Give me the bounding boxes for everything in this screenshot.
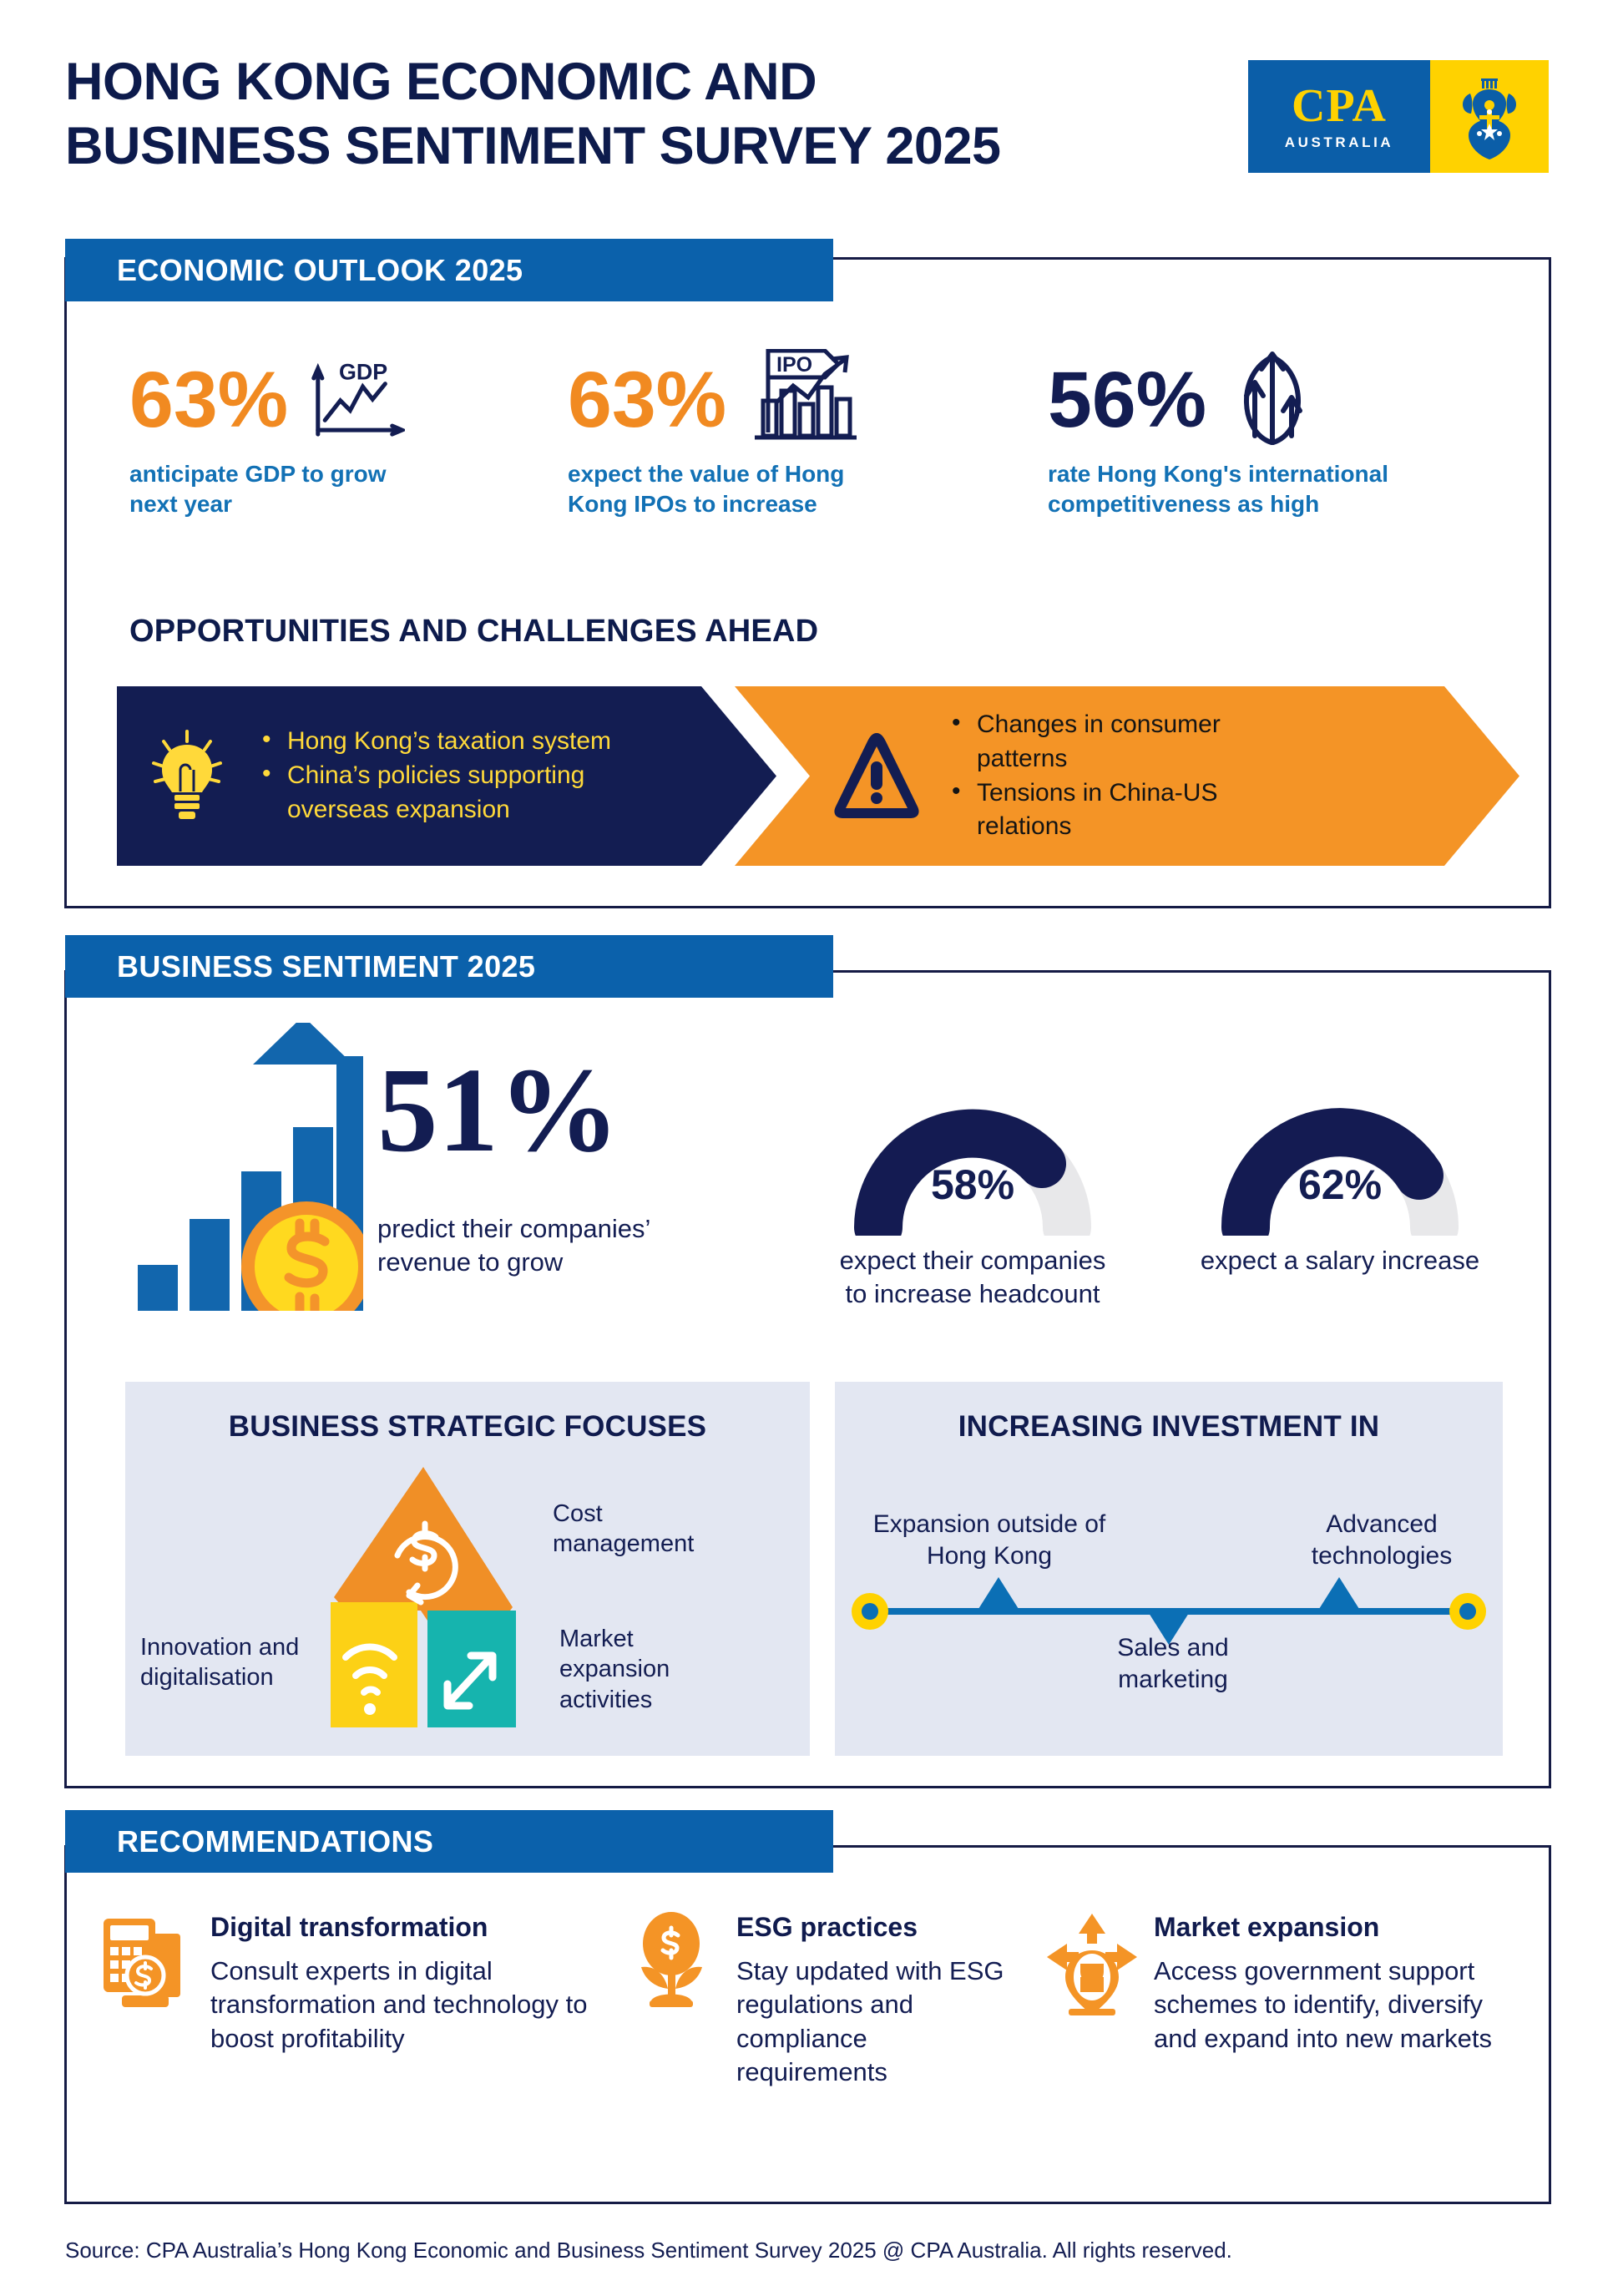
revenue-growth-value: 51% bbox=[377, 1050, 619, 1171]
stat-ipo-caption: expect the value of Hong Kong IPOs to in… bbox=[568, 459, 885, 519]
panel-increasing-investment: INCREASING INVESTMENT IN Expansion outsi… bbox=[835, 1382, 1503, 1756]
logo-brand-text: CPA bbox=[1292, 83, 1387, 129]
gauge-arc-icon bbox=[1211, 1069, 1469, 1236]
recommendation-digital: Digital transformation Consult experts i… bbox=[100, 1912, 601, 2056]
stat-competitiveness: 56% rate Hong Kong's international compe… bbox=[1048, 351, 1449, 519]
investment-marker-technologies bbox=[1319, 1577, 1359, 1609]
opportunities-heading: OPPORTUNITIES AND CHALLENGES AHEAD bbox=[129, 614, 818, 650]
stat-competitiveness-value: 56% bbox=[1048, 361, 1206, 440]
calculator-finance-icon bbox=[100, 1912, 194, 2056]
cpa-australia-logo: CPA AUSTRALIA bbox=[1248, 60, 1549, 173]
strategic-focus-label-cost: Cost management bbox=[553, 1499, 745, 1560]
recommendation-digital-body: Consult experts in digital transformatio… bbox=[210, 1955, 601, 2056]
gauge-salary-caption: expect a salary increase bbox=[1194, 1244, 1486, 1277]
upward-arrows-icon bbox=[1218, 349, 1327, 451]
stat-ipo-row: 63% IPO bbox=[568, 351, 885, 449]
warning-triangle-icon bbox=[827, 730, 927, 823]
panel-increasing-investment-title: INCREASING INVESTMENT IN bbox=[835, 1410, 1503, 1444]
source-note: Source: CPA Australia’s Hong Kong Econom… bbox=[65, 2238, 1232, 2263]
svg-text:GDP: GDP bbox=[339, 360, 387, 385]
strategic-focus-triangle-icon bbox=[294, 1464, 553, 1739]
gauge-salary: 62% expect a salary increase bbox=[1211, 1069, 1469, 1240]
strategic-focus-label-innovation: Innovation and digitalisation bbox=[140, 1632, 307, 1693]
section-header-recommendations: RECOMMENDATIONS bbox=[65, 1810, 833, 1873]
recommendation-digital-text: Digital transformation Consult experts i… bbox=[210, 1912, 601, 2056]
gauge-salary-value: 62% bbox=[1211, 1161, 1469, 1209]
gauge-headcount-value: 58% bbox=[843, 1161, 1102, 1209]
map-pin-expand-icon bbox=[1044, 1912, 1137, 2056]
stat-gdp-row: 63% GDP bbox=[129, 351, 405, 449]
investment-marker-expansion bbox=[978, 1577, 1019, 1609]
section-header-business-sentiment: BUSINESS SENTIMENT 2025 bbox=[65, 935, 833, 998]
stat-gdp: 63% GDP anticipate GDP to grow next year bbox=[129, 351, 405, 519]
growth-bars-coin-icon bbox=[121, 1023, 363, 1311]
logo-yellow-panel bbox=[1430, 60, 1549, 173]
stat-competitiveness-row: 56% bbox=[1048, 351, 1449, 449]
list-item: Tensions in China-US relations bbox=[948, 776, 1282, 845]
page-title-line1: HONG KONG ECONOMIC AND bbox=[65, 50, 1150, 114]
lightbulb-icon bbox=[137, 726, 237, 827]
svg-text:IPO: IPO bbox=[776, 353, 812, 377]
recommendation-market-text: Market expansion Access government suppo… bbox=[1154, 1912, 1511, 2056]
revenue-growth-caption: predict their companies’ revenue to grow bbox=[377, 1212, 745, 1280]
logo-blue-panel: CPA AUSTRALIA bbox=[1248, 60, 1430, 173]
investment-label-technologies: Advanced technologies bbox=[1277, 1509, 1486, 1571]
panel-strategic-focuses: BUSINESS STRATEGIC FOCUSES bbox=[125, 1382, 810, 1756]
challenges-chevron: Changes in consumer patterns Tensions in… bbox=[735, 686, 1519, 866]
section-header-economic-outlook: ECONOMIC OUTLOOK 2025 bbox=[65, 239, 833, 301]
logo-country-text: AUSTRALIA bbox=[1285, 134, 1394, 151]
recommendation-market: Market expansion Access government suppo… bbox=[1044, 1912, 1511, 2056]
investment-endpoint-right bbox=[1449, 1593, 1486, 1630]
opportunities-list: Hong Kong’s taxation system China’s poli… bbox=[259, 725, 618, 827]
gdp-line-chart-icon: GDP bbox=[300, 351, 405, 449]
recommendation-esg: ESG practices Stay updated with ESG regu… bbox=[626, 1912, 1010, 2089]
recommendation-esg-text: ESG practices Stay updated with ESG regu… bbox=[736, 1912, 1010, 2089]
stat-ipo: 63% IPO expect the value of Hong Kong IP… bbox=[568, 351, 885, 519]
stat-gdp-value: 63% bbox=[129, 361, 288, 440]
investment-endpoint-left bbox=[852, 1593, 888, 1630]
gauge-headcount-caption: expect their companies to increase headc… bbox=[827, 1244, 1119, 1310]
recommendation-market-body: Access government support schemes to ide… bbox=[1154, 1955, 1511, 2056]
recommendation-esg-title: ESG practices bbox=[736, 1912, 1010, 1943]
panel-strategic-focuses-title: BUSINESS STRATEGIC FOCUSES bbox=[125, 1410, 810, 1444]
list-item: Hong Kong’s taxation system bbox=[259, 725, 618, 759]
infographic-page: HONG KONG ECONOMIC AND BUSINESS SENTIMEN… bbox=[0, 0, 1623, 2296]
stat-gdp-caption: anticipate GDP to grow next year bbox=[129, 459, 405, 519]
recommendation-digital-title: Digital transformation bbox=[210, 1912, 601, 1943]
ipo-bar-chart-icon: IPO bbox=[738, 349, 863, 451]
stat-competitiveness-caption: rate Hong Kong's international competiti… bbox=[1048, 459, 1449, 519]
gauge-headcount: 58% expect their companies to increase h… bbox=[843, 1069, 1102, 1240]
list-item: China’s policies supporting overseas exp… bbox=[259, 759, 618, 827]
page-title-line2: BUSINESS SENTIMENT SURVEY 2025 bbox=[65, 114, 1150, 179]
recommendation-esg-body: Stay updated with ESG regulations and co… bbox=[736, 1955, 1010, 2089]
investment-marker-sales bbox=[1149, 1613, 1189, 1645]
plant-dollar-icon bbox=[626, 1912, 720, 2089]
page-title: HONG KONG ECONOMIC AND BUSINESS SENTIMEN… bbox=[65, 50, 1150, 179]
opportunities-chevron: Hong Kong’s taxation system China’s poli… bbox=[117, 686, 776, 866]
opportunities-challenges-chevrons: Hong Kong’s taxation system China’s poli… bbox=[117, 686, 1519, 866]
list-item: Changes in consumer patterns bbox=[948, 708, 1282, 776]
crest-icon bbox=[1454, 73, 1525, 160]
challenges-list: Changes in consumer patterns Tensions in… bbox=[948, 708, 1282, 844]
investment-label-expansion: Expansion outside of Hong Kong bbox=[856, 1509, 1123, 1571]
recommendation-market-title: Market expansion bbox=[1154, 1912, 1511, 1943]
strategic-focus-label-market: Market expansion activities bbox=[559, 1624, 726, 1715]
stat-ipo-value: 63% bbox=[568, 361, 726, 440]
gauge-arc-icon bbox=[843, 1069, 1102, 1236]
